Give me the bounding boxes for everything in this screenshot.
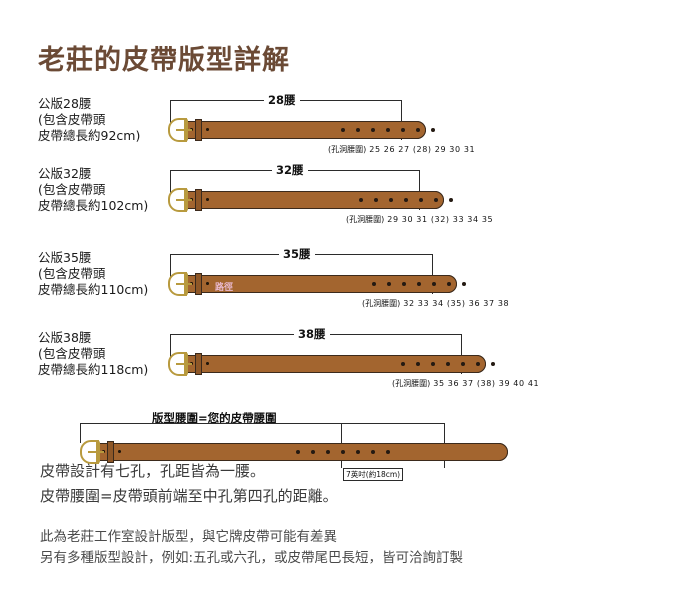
measure-label: 38腰 xyxy=(294,326,330,342)
hole-caption-title: (孔洞腰圍) xyxy=(362,299,400,308)
belt-strap xyxy=(172,355,486,373)
measure-label: 35腰 xyxy=(279,246,315,262)
watermark-text: 路徑 xyxy=(215,280,233,293)
belt-row-label-line2: (包含皮帶頭 xyxy=(38,266,173,282)
belt-row-label-line1: 公版28腰 xyxy=(38,96,173,112)
belt-hole xyxy=(491,362,495,366)
buckle-prong-icon xyxy=(176,363,192,365)
inch-note-box: 7英吋(約18cm) xyxy=(343,468,403,481)
belt-keeper-loop xyxy=(195,119,202,141)
belt-hole xyxy=(462,282,466,286)
hole-caption-numbers: 25 26 27 (28) 29 30 31 xyxy=(369,145,475,154)
belt-row-label-line1: 公版35腰 xyxy=(38,250,173,266)
note-line-4: 另有多種版型設計，例如:五孔或六孔，或皮帶尾巴長短，皆可洽詢訂製 xyxy=(40,548,463,568)
buckle-prong-icon xyxy=(88,451,104,453)
belt-row-label-line2: (包含皮帶頭 xyxy=(38,182,173,198)
inch-bracket-top xyxy=(341,423,445,424)
hole-caption-title: (孔洞腰圍) xyxy=(392,379,430,388)
belt-keeper-loop xyxy=(107,441,114,463)
measure-bracket-top xyxy=(80,423,342,424)
belt-row-label-line1: 公版38腰 xyxy=(38,330,173,346)
belt-keeper-loop xyxy=(195,273,202,295)
measure-label: 28腰 xyxy=(264,92,300,108)
buckle-prong-icon xyxy=(176,283,192,285)
belt-row-label-line1: 公版32腰 xyxy=(38,166,173,182)
note-line-1: 皮帶設計有七孔，孔距皆為一腰。 xyxy=(40,461,265,482)
belt-keeper-loop xyxy=(195,353,202,375)
measure-label: 32腰 xyxy=(272,162,308,178)
note-line-2: 皮帶腰圍=皮帶頭前端至中孔第四孔的距離。 xyxy=(40,486,338,507)
hole-waist-caption: (孔洞腰圍)29 30 31 (32) 33 34 35 xyxy=(346,214,493,225)
belt-hole xyxy=(449,198,453,202)
hole-waist-caption: (孔洞腰圍)25 26 27 (28) 29 30 31 xyxy=(328,144,475,155)
belt-row-label-line2: (包含皮帶頭 xyxy=(38,112,173,128)
hole-caption-title: (孔洞腰圍) xyxy=(346,215,384,224)
belt-row-label-line2: (包含皮帶頭 xyxy=(38,346,173,362)
hole-caption-title: (孔洞腰圍) xyxy=(328,145,366,154)
belt-hole xyxy=(431,128,435,132)
belt-keeper-loop xyxy=(195,189,202,211)
belt-row-label-line3: 皮帶總長約110cm) xyxy=(38,282,173,298)
hole-caption-numbers: 32 33 34 (35) 36 37 38 xyxy=(403,299,509,308)
note-line-3: 此為老莊工作室設計版型，與它牌皮帶可能有差異 xyxy=(40,527,337,547)
page-title: 老莊的皮帶版型詳解 xyxy=(38,38,290,77)
hole-waist-caption: (孔洞腰圍)35 36 37 (38) 39 40 41 xyxy=(392,378,539,389)
belt-row-label-line3: 皮帶總長約118cm) xyxy=(38,362,173,378)
belt-row-label: 公版28腰 (包含皮帶頭 皮帶總長約92cm) xyxy=(38,96,173,144)
belt-row-label-line3: 皮帶總長約102cm) xyxy=(38,198,173,214)
belt-row-label: 公版35腰 (包含皮帶頭 皮帶總長約110cm) xyxy=(38,250,173,298)
hole-caption-numbers: 29 30 31 (32) 33 34 35 xyxy=(387,215,493,224)
belt-size-chart-page: 老莊的皮帶版型詳解 公版28腰 (包含皮帶頭 皮帶總長約92cm) 28腰 (孔… xyxy=(0,0,682,600)
hole-caption-numbers: 35 36 37 (38) 39 40 41 xyxy=(433,379,539,388)
hole-waist-caption: (孔洞腰圍)32 33 34 (35) 36 37 38 xyxy=(362,298,509,309)
buckle-prong-icon xyxy=(176,129,192,131)
belt-row-label-line3: 皮帶總長約92cm) xyxy=(38,128,173,144)
measure-bracket-left xyxy=(80,423,81,443)
belt-row-label: 公版32腰 (包含皮帶頭 皮帶總長約102cm) xyxy=(38,166,173,214)
belt-row-label: 公版38腰 (包含皮帶頭 皮帶總長約118cm) xyxy=(38,330,173,378)
buckle-prong-icon xyxy=(176,199,192,201)
